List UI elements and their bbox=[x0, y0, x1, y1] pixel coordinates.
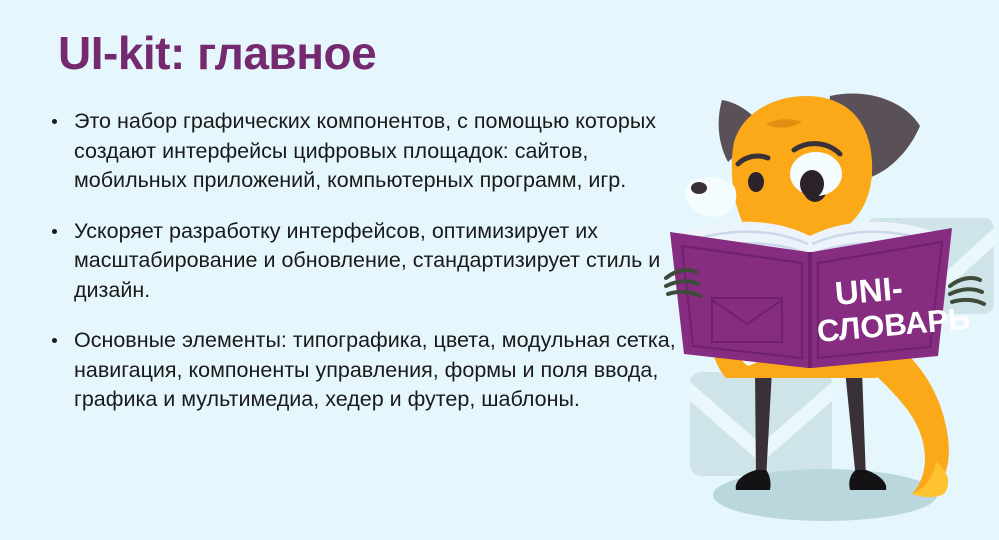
list-item-text: Ускоряет разработку интерфейсов, оптимиз… bbox=[74, 217, 688, 306]
book-spine bbox=[808, 252, 812, 368]
fox-eye-left bbox=[748, 172, 764, 192]
bullet-dot-icon bbox=[52, 229, 57, 234]
fox-nose bbox=[691, 182, 707, 194]
bullet-dot-icon bbox=[52, 338, 57, 343]
bullet-list: Это набор графических компонентов, с пом… bbox=[48, 107, 688, 415]
list-item-text: Основные элементы: типографика, цвета, м… bbox=[74, 326, 688, 415]
bullet-dot-icon bbox=[52, 119, 57, 124]
list-item: Ускоряет разработку интерфейсов, оптимиз… bbox=[48, 217, 688, 306]
fox-leg-left bbox=[755, 370, 772, 480]
fox-reading-book-illustration: UNI- СЛОВАРЬ bbox=[660, 70, 999, 540]
fox-pupil-right bbox=[800, 170, 824, 198]
page-title: UI-kit: главное bbox=[58, 26, 376, 80]
fox-snout bbox=[685, 177, 736, 217]
book-cover-left bbox=[670, 232, 808, 368]
book-title-line1: UNI- bbox=[833, 269, 904, 312]
fox-foot-left bbox=[736, 470, 771, 490]
fox-leg-right bbox=[845, 370, 866, 480]
fox-head bbox=[685, 94, 920, 238]
list-item-text: Это набор графических компонентов, с пом… bbox=[74, 107, 688, 196]
list-item: Это набор графических компонентов, с пом… bbox=[48, 107, 688, 196]
slide-root: UI-kit: главное Это набор графических ко… bbox=[0, 0, 999, 540]
list-item: Основные элементы: типографика, цвета, м… bbox=[48, 326, 688, 415]
